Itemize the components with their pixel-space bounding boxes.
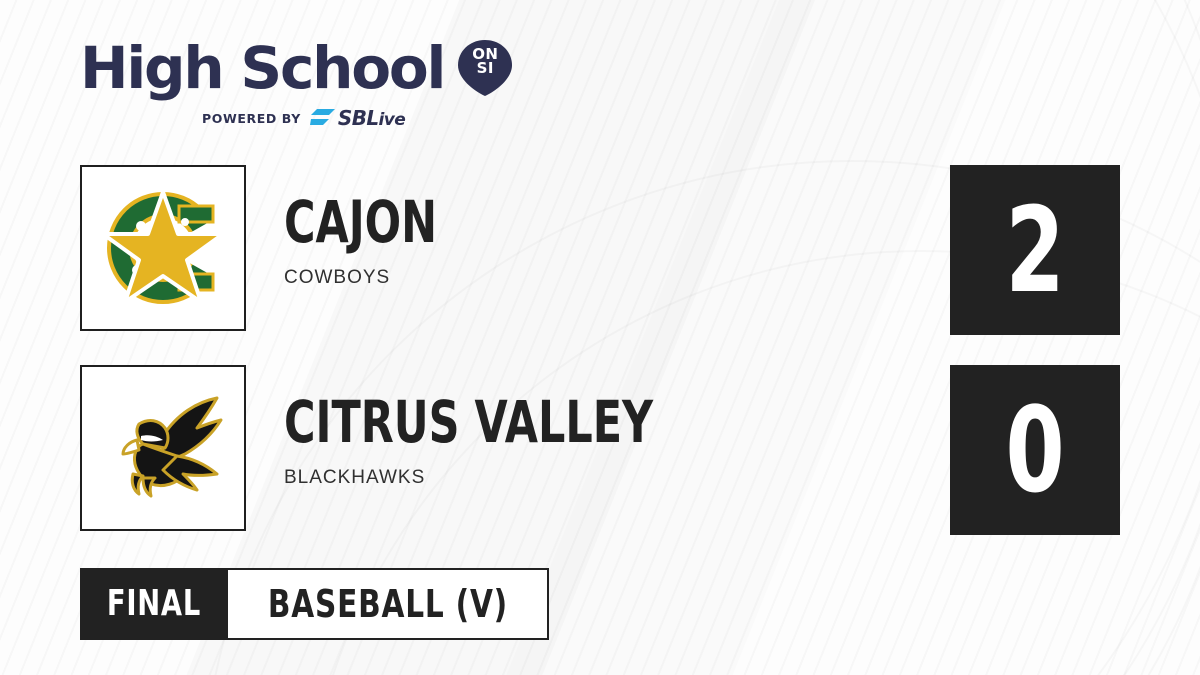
sblive-wordmark: SBLive [338,106,405,130]
game-state-badge: FINAL [80,568,228,640]
team-logo-box [80,165,246,331]
pin-label-line2: SI [455,61,515,75]
team-row: CAJON COWBOYS 2 [80,165,1120,335]
powered-by-label: POWERED BY [202,111,301,126]
team-name: CITRUS VALLEY [284,393,802,451]
team-mascot: BLACKHAWKS [284,467,984,489]
team-text-block: CAJON COWBOYS [284,193,984,289]
team-score-box: 2 [950,165,1120,335]
sport-label: BASEBALL (V) [267,585,507,623]
team-score: 2 [1005,191,1064,309]
sblive-arrow-icon [310,108,336,128]
team-text-block: CITRUS VALLEY BLACKHAWKS [284,393,984,489]
sport-badge: BASEBALL (V) [228,568,549,640]
brand-header: High School ON SI POWERED BY SBLive [80,34,580,134]
scoreboard-graphic: High School ON SI POWERED BY SBLive [0,0,1200,675]
team-mascot: COWBOYS [284,267,984,289]
brand-logo-row: High School ON SI [80,34,580,102]
citrus-valley-hawk-logo [93,378,233,518]
team-score-box: 0 [950,365,1120,535]
game-state-label: FINAL [107,586,201,622]
location-pin-icon: ON SI [455,38,515,98]
sblive-word-suffix: ive [379,110,406,130]
brand-wordmark: High School [80,37,444,99]
status-bar: FINAL BASEBALL (V) [80,568,549,640]
sblive-word-main: SBL [338,106,379,130]
pin-label: ON SI [455,47,515,75]
powered-by-row: POWERED BY SBLive [202,107,580,129]
team-score: 0 [1005,391,1064,509]
team-name: CAJON [284,193,802,251]
team-row: CITRUS VALLEY BLACKHAWKS 0 [80,365,1120,535]
team-logo-box [80,365,246,531]
cajon-star-c-logo [93,178,233,318]
